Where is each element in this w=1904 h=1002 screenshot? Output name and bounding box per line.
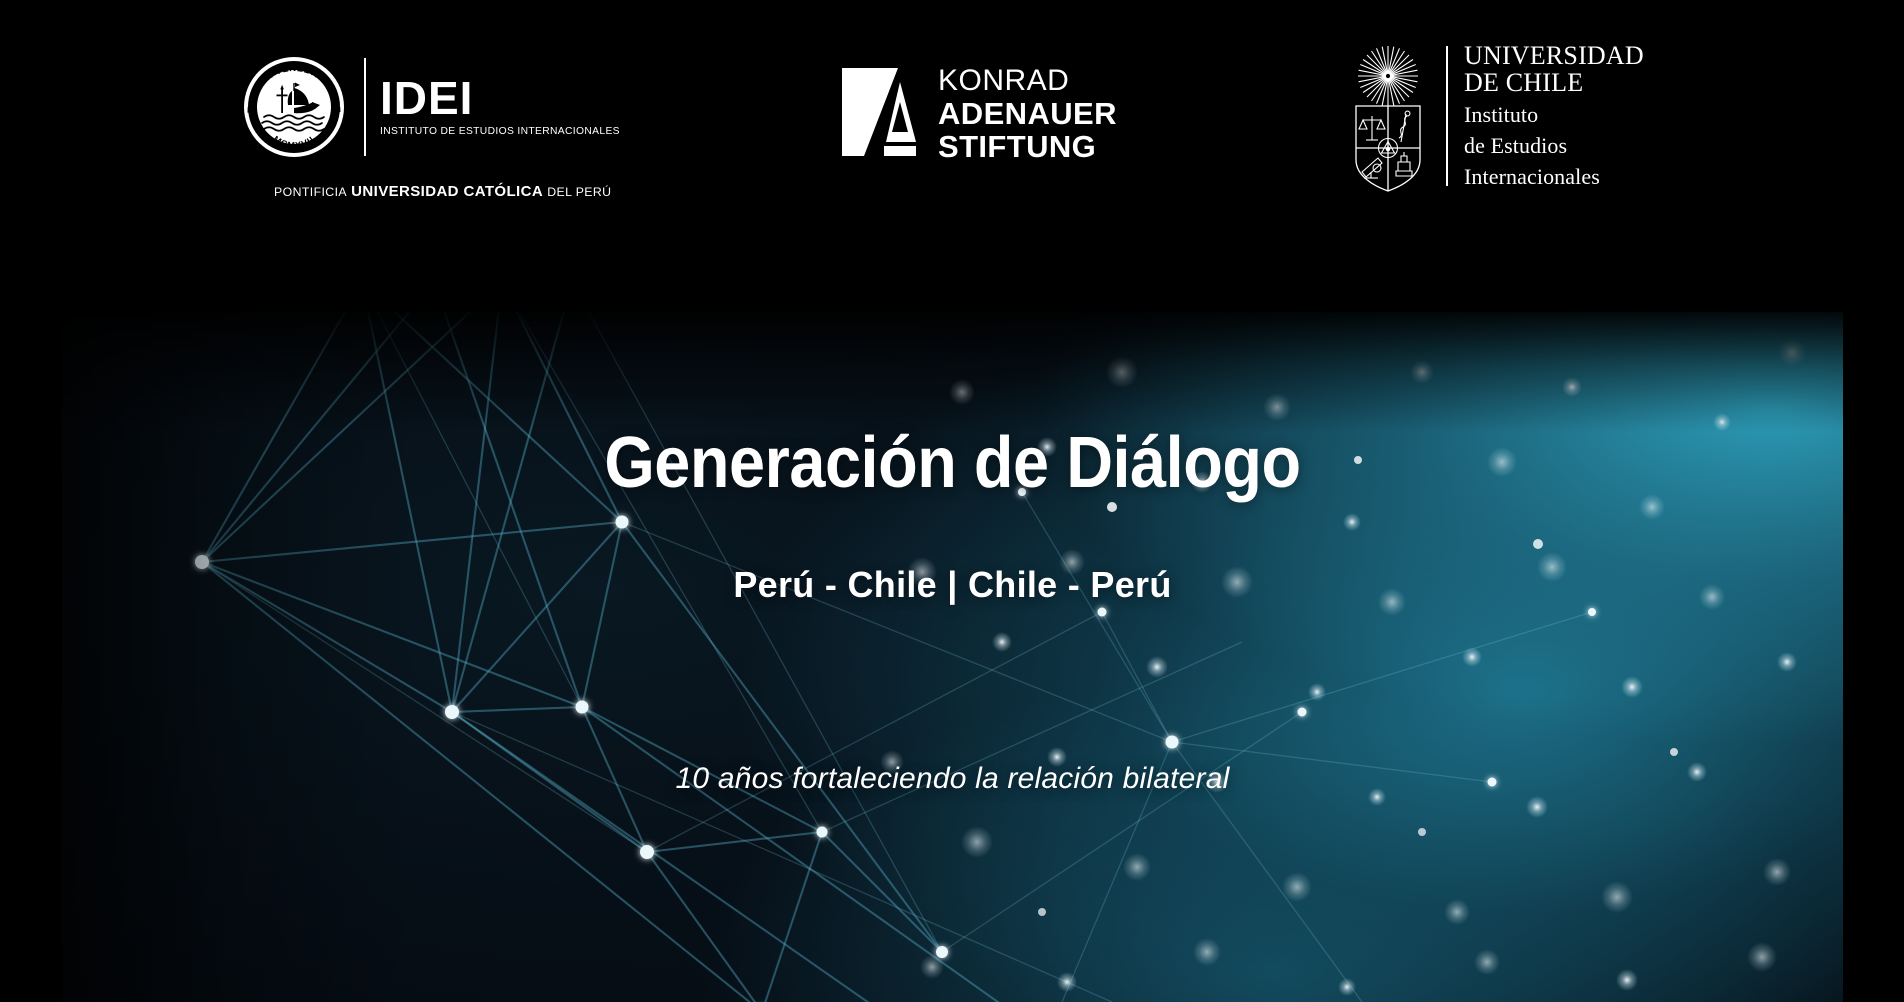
- pucp-name-part-1: PONTIFICIA: [274, 185, 347, 199]
- uch-line-4: de Estudios: [1464, 133, 1644, 158]
- kas-logo-row: KONRAD ADENAUER STIFTUNG: [842, 66, 1262, 162]
- uch-divider: [1446, 46, 1448, 186]
- kas-mark-icon: [842, 68, 916, 156]
- pucp-divider: [364, 58, 366, 156]
- slide-content-area: ET LUX IN TENEBRIS LUCET MCMXVII: [62, 0, 1843, 1002]
- uch-wordmark: UNIVERSIDAD DE CHILE Instituto de Estudi…: [1464, 42, 1644, 189]
- logo-universidad-de-chile: UNIVERSIDAD DE CHILE Instituto de Estudi…: [1344, 42, 1724, 202]
- uch-line-3: Instituto: [1464, 102, 1644, 127]
- uch-line-5: Internacionales: [1464, 164, 1644, 189]
- pucp-logo-row: ET LUX IN TENEBRIS LUCET MCMXVII: [242, 55, 602, 159]
- hero-text-block: Generación de Diálogo Perú - Chile | Chi…: [62, 312, 1843, 1002]
- uch-crest-icon: [1344, 42, 1432, 192]
- idei-acronym: IDEI: [380, 77, 620, 121]
- uch-line-1: UNIVERSIDAD: [1464, 42, 1644, 69]
- logo-pucp-idei: ET LUX IN TENEBRIS LUCET MCMXVII: [242, 55, 602, 215]
- kas-line-1: KONRAD: [938, 66, 1117, 96]
- page-subtitle: Perú - Chile | Chile - Perú: [62, 564, 1843, 606]
- kas-line-3: STIFTUNG: [938, 131, 1117, 162]
- page-tagline: 10 años fortaleciendo la relación bilate…: [62, 762, 1843, 796]
- uch-line-2: DE CHILE: [1464, 69, 1644, 96]
- pucp-name-part-3: DEL PERÚ: [547, 185, 611, 199]
- pucp-institution-name: PONTIFICIA UNIVERSIDAD CATÓLICA DEL PERÚ: [274, 183, 602, 200]
- uch-logo-row: UNIVERSIDAD DE CHILE Instituto de Estudi…: [1344, 42, 1724, 192]
- logo-konrad-adenauer-stiftung: KONRAD ADENAUER STIFTUNG: [842, 66, 1262, 186]
- idei-wordmark: IDEI INSTITUTO DE ESTUDIOS INTERNACIONAL…: [380, 77, 620, 137]
- kas-line-2: ADENAUER: [938, 98, 1117, 129]
- idei-subtitle: INSTITUTO DE ESTUDIOS INTERNACIONALES: [380, 126, 620, 137]
- pucp-name-part-2: UNIVERSIDAD CATÓLICA: [351, 183, 543, 200]
- presentation-slide: ET LUX IN TENEBRIS LUCET MCMXVII: [0, 0, 1904, 1002]
- kas-wordmark: KONRAD ADENAUER STIFTUNG: [938, 66, 1117, 162]
- hero-background-image: Generación de Diálogo Perú - Chile | Chi…: [62, 312, 1843, 1002]
- page-title: Generación de Diálogo: [151, 422, 1754, 504]
- logo-header-band: ET LUX IN TENEBRIS LUCET MCMXVII: [62, 0, 1843, 312]
- pucp-seal-icon: ET LUX IN TENEBRIS LUCET MCMXVII: [242, 55, 346, 159]
